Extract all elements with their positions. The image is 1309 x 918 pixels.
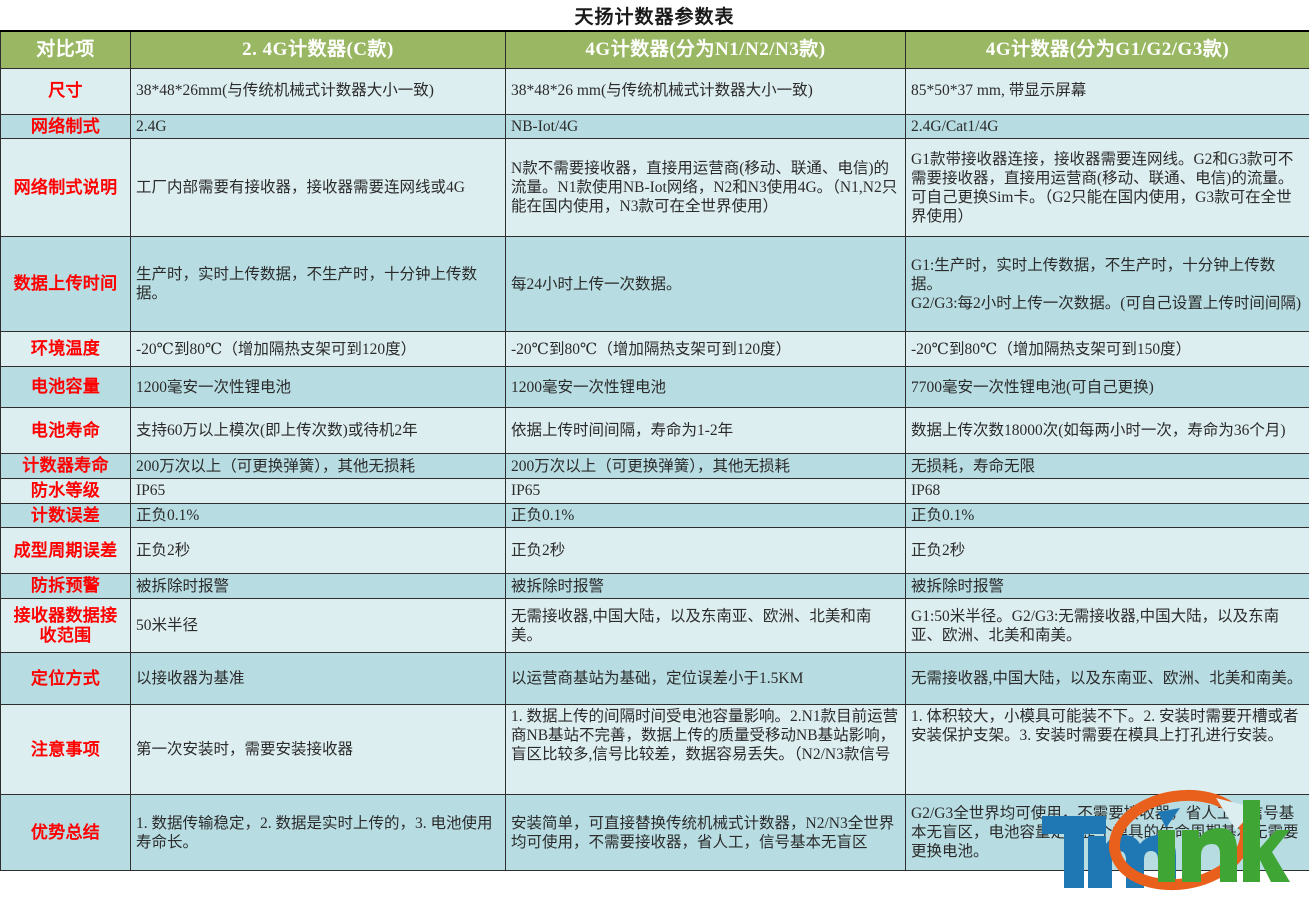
row-label-counter-life: 计数器寿命 (1, 454, 131, 479)
cell-size-n: 38*48*26 mm(与传统机械式计数器大小一致) (506, 68, 906, 114)
cell-ambient-temperature-n: -20℃到80℃（增加隔热支架可到120度） (506, 332, 906, 367)
table-row: 成型周期误差 正负2秒 正负2秒 正负2秒 (1, 528, 1309, 574)
cell-ambient-temperature-g: -20℃到80℃（增加隔热支架可到150度） (906, 332, 1309, 367)
cell-upload-time-g: G1:生产时，实时上传数据，不生产时，十分钟上传数据。 G2/G3:每2小时上传… (906, 237, 1309, 332)
row-label-receiver-range: 接收器数据接收范围 (1, 599, 131, 653)
table-row: 接收器数据接收范围 50米半径 无需接收器,中国大陆，以及东南亚、欧洲、北美和南… (1, 599, 1309, 653)
cell-count-error-g: 正负0.1% (906, 503, 1309, 528)
cell-counter-life-c: 200万次以上（可更换弹簧），其他无损耗 (131, 454, 506, 479)
cell-counter-life-g: 无损耗，寿命无限 (906, 454, 1309, 479)
cell-cycle-error-g: 正负2秒 (906, 528, 1309, 574)
table-row: 尺寸 38*48*26mm(与传统机械式计数器大小一致) 38*48*26 mm… (1, 68, 1309, 114)
table-row: 网络制式说明 工厂内部需要有接收器，接收器需要连网线或4G N款不需要接收器，直… (1, 139, 1309, 237)
cell-upload-time-c: 生产时，实时上传数据，不生产时，十分钟上传数据。 (131, 237, 506, 332)
table-row: 数据上传时间 生产时，实时上传数据，不生产时，十分钟上传数据。 每24小时上传一… (1, 237, 1309, 332)
cell-precautions-c: 第一次安装时，需要安装接收器 (131, 705, 506, 795)
cell-battery-life-c: 支持60万以上模次(即上传次数)或待机2年 (131, 408, 506, 454)
cell-waterproof-rating-n: IP65 (506, 478, 906, 503)
row-label-count-error: 计数误差 (1, 503, 131, 528)
cell-precautions-g: 1. 体积较大，小模具可能装不下。2. 安装时需要开槽或者安装保护支架。3. 安… (906, 705, 1309, 795)
cell-cycle-error-c: 正负2秒 (131, 528, 506, 574)
row-label-size: 尺寸 (1, 68, 131, 114)
row-label-tamper-alarm: 防拆预警 (1, 574, 131, 599)
cell-battery-capacity-g: 7700毫安一次性锂电池(可自己更换) (906, 367, 1309, 408)
cell-network-description-c: 工厂内部需要有接收器，接收器需要连网线或4G (131, 139, 506, 237)
column-header-criteria: 对比项 (1, 31, 131, 68)
cell-network-standard-n: NB-Iot/4G (506, 114, 906, 139)
table-body: 尺寸 38*48*26mm(与传统机械式计数器大小一致) 38*48*26 mm… (1, 68, 1309, 871)
cell-tamper-alarm-c: 被拆除时报警 (131, 574, 506, 599)
cell-positioning-method-n: 以运营商基站为基础，定位误差小于1.5KM (506, 653, 906, 705)
cell-advantage-summary-g: G2/G3全世界均可使用，不需要接收器，省人工，信号基本无盲区，电池容量足，整个… (906, 795, 1309, 871)
cell-size-c: 38*48*26mm(与传统机械式计数器大小一致) (131, 68, 506, 114)
cell-advantage-summary-c: 1. 数据传输稳定，2. 数据是实时上传的，3. 电池使用寿命长。 (131, 795, 506, 871)
cell-receiver-range-c: 50米半径 (131, 599, 506, 653)
row-label-precautions: 注意事项 (1, 705, 131, 795)
cell-advantage-summary-n: 安装简单，可直接替换传统机械式计数器，N2/N3全世界均可使用，不需要接收器，省… (506, 795, 906, 871)
cell-waterproof-rating-c: IP65 (131, 478, 506, 503)
page-title: 天扬计数器参数表 (574, 2, 734, 29)
cell-positioning-method-g: 无需接收器,中国大陆，以及东南亚、欧洲、北美和南美。 (906, 653, 1309, 705)
cell-receiver-range-g: G1:50米半径。G2/G3:无需接收器,中国大陆，以及东南亚、欧洲、北美和南美… (906, 599, 1309, 653)
cell-upload-time-n: 每24小时上传一次数据。 (506, 237, 906, 332)
table-row: 电池容量 1200毫安一次性锂电池 1200毫安一次性锂电池 7700毫安一次性… (1, 367, 1309, 408)
table-row: 注意事项 第一次安装时，需要安装接收器 1. 数据上传的间隔时间受电池容量影响。… (1, 705, 1309, 795)
table-row: 防水等级 IP65 IP65 IP68 (1, 478, 1309, 503)
cell-battery-life-g: 数据上传次数18000次(如每两小时一次，寿命为36个月) (906, 408, 1309, 454)
row-label-cycle-error: 成型周期误差 (1, 528, 131, 574)
row-label-network-description: 网络制式说明 (1, 139, 131, 237)
cell-waterproof-rating-g: IP68 (906, 478, 1309, 503)
cell-size-g: 85*50*37 mm, 带显示屏幕 (906, 68, 1309, 114)
table-row: 计数器寿命 200万次以上（可更换弹簧），其他无损耗 200万次以上（可更换弹簧… (1, 454, 1309, 479)
cell-battery-capacity-c: 1200毫安一次性锂电池 (131, 367, 506, 408)
row-label-advantage-summary: 优势总结 (1, 795, 131, 871)
table-row: 环境温度 -20℃到80℃（增加隔热支架可到120度） -20℃到80℃（增加隔… (1, 332, 1309, 367)
table-row: 防拆预警 被拆除时报警 被拆除时报警 被拆除时报警 (1, 574, 1309, 599)
table-row: 优势总结 1. 数据传输稳定，2. 数据是实时上传的，3. 电池使用寿命长。 安… (1, 795, 1309, 871)
row-label-ambient-temperature: 环境温度 (1, 332, 131, 367)
cell-ambient-temperature-c: -20℃到80℃（增加隔热支架可到120度） (131, 332, 506, 367)
parameter-comparison-table: 对比项 2. 4G计数器(C款) 4G计数器(分为N1/N2/N3款) 4G计数… (0, 30, 1309, 871)
cell-positioning-method-c: 以接收器为基准 (131, 653, 506, 705)
document-title-bar: 天扬计数器参数表 (0, 0, 1309, 30)
row-label-upload-time: 数据上传时间 (1, 237, 131, 332)
cell-battery-capacity-n: 1200毫安一次性锂电池 (506, 367, 906, 408)
row-label-battery-capacity: 电池容量 (1, 367, 131, 408)
cell-network-description-n: N款不需要接收器，直接用运营商(移动、联通、电信)的流量。N1款使用NB-Iot… (506, 139, 906, 237)
cell-precautions-n: 1. 数据上传的间隔时间受电池容量影响。2.N1款目前运营商NB基站不完善，数据… (506, 705, 906, 795)
cell-network-standard-g: 2.4G/Cat1/4G (906, 114, 1309, 139)
cell-counter-life-n: 200万次以上（可更换弹簧），其他无损耗 (506, 454, 906, 479)
cell-network-standard-c: 2.4G (131, 114, 506, 139)
table-header: 对比项 2. 4G计数器(C款) 4G计数器(分为N1/N2/N3款) 4G计数… (1, 31, 1309, 68)
table-row: 电池寿命 支持60万以上模次(即上传次数)或待机2年 依据上传时间间隔，寿命为1… (1, 408, 1309, 454)
cell-count-error-c: 正负0.1% (131, 503, 506, 528)
table-header-row: 对比项 2. 4G计数器(C款) 4G计数器(分为N1/N2/N3款) 4G计数… (1, 31, 1309, 68)
cell-tamper-alarm-g: 被拆除时报警 (906, 574, 1309, 599)
row-label-waterproof-rating: 防水等级 (1, 478, 131, 503)
table-row: 计数误差 正负0.1% 正负0.1% 正负0.1% (1, 503, 1309, 528)
table-row: 网络制式 2.4G NB-Iot/4G 2.4G/Cat1/4G (1, 114, 1309, 139)
cell-network-description-g: G1款带接收器连接，接收器需要连网线。G2和G3款可不需要接收器，直接用运营商(… (906, 139, 1309, 237)
cell-receiver-range-n: 无需接收器,中国大陆，以及东南亚、欧洲、北美和南美。 (506, 599, 906, 653)
cell-tamper-alarm-n: 被拆除时报警 (506, 574, 906, 599)
column-header-c-model: 2. 4G计数器(C款) (131, 31, 506, 68)
row-label-battery-life: 电池寿命 (1, 408, 131, 454)
table-row: 定位方式 以接收器为基准 以运营商基站为基础，定位误差小于1.5KM 无需接收器… (1, 653, 1309, 705)
cell-count-error-n: 正负0.1% (506, 503, 906, 528)
row-label-positioning-method: 定位方式 (1, 653, 131, 705)
column-header-g-model: 4G计数器(分为G1/G2/G3款) (906, 31, 1309, 68)
cell-battery-life-n: 依据上传时间间隔，寿命为1-2年 (506, 408, 906, 454)
row-label-network-standard: 网络制式 (1, 114, 131, 139)
page-root: 天扬计数器参数表 对比项 2. 4G计数器(C款) 4G计数器(分为N1/N2/… (0, 0, 1309, 918)
column-header-n-model: 4G计数器(分为N1/N2/N3款) (506, 31, 906, 68)
cell-cycle-error-n: 正负2秒 (506, 528, 906, 574)
